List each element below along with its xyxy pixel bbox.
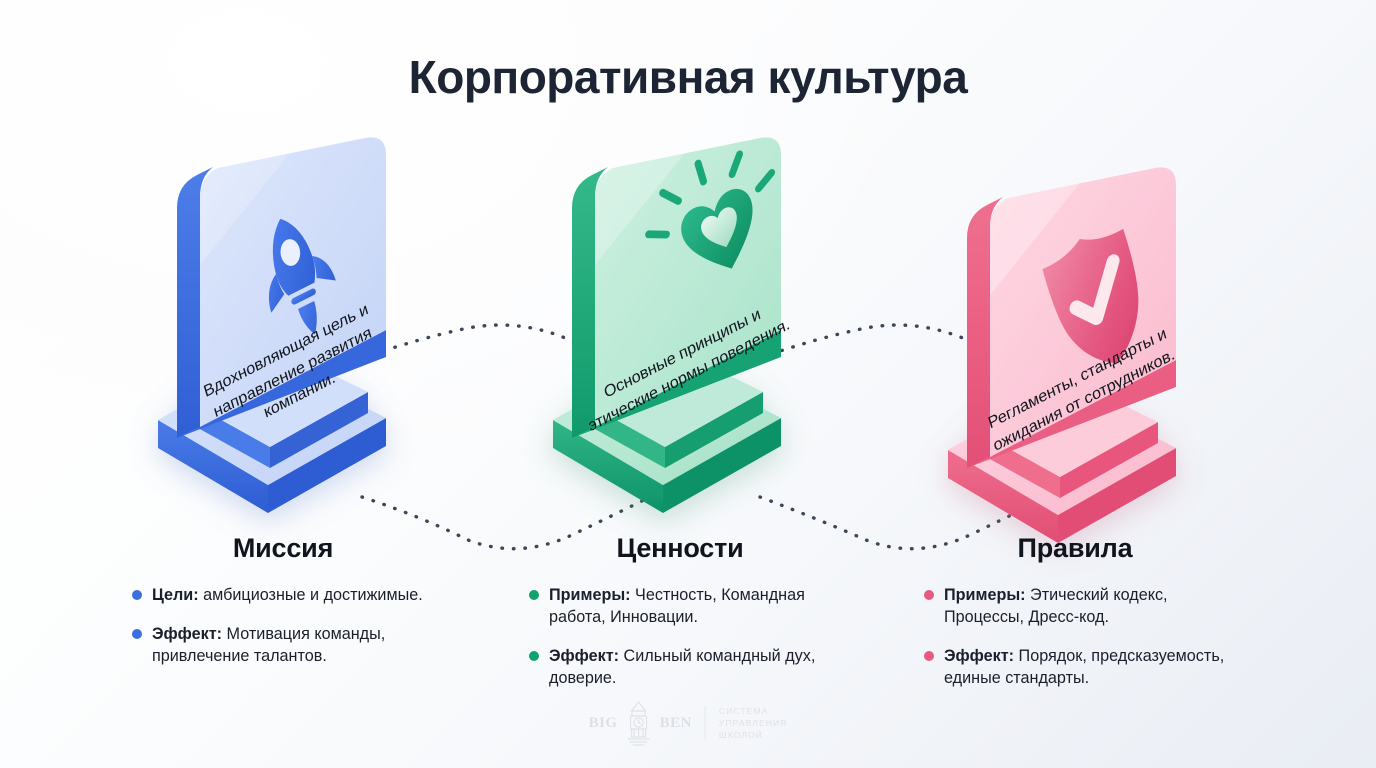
logo-divider [705, 706, 706, 740]
list-item: Эффект: Мотивация команды, привлечение т… [152, 623, 448, 667]
bullet-label: Цели: [152, 586, 199, 604]
bullet-dot-icon [132, 590, 142, 600]
card-values[interactable]: Основные принципы и этические нормы пове… [545, 135, 845, 535]
bullet-dot-icon [529, 651, 539, 661]
logo-tagline: Система управления школой [719, 705, 788, 742]
bullet-label: Эффект: [152, 625, 222, 643]
logo-tagline-line2: управления [719, 717, 788, 729]
clock-tower-icon [622, 700, 656, 746]
column-heading-values: Ценности [515, 533, 845, 564]
card-mission[interactable]: Вдохновляющая цель и направление развити… [150, 135, 450, 535]
bullet-dot-icon [132, 629, 142, 639]
card-rules[interactable]: Регламенты, стандарты и ожидания от сотр… [940, 165, 1240, 565]
bullet-list-mission: Цели: амбициозные и достижимые. Эффект: … [118, 584, 448, 667]
bullet-label: Эффект: [944, 647, 1014, 665]
bigben-logo-mark: BIG BEN [589, 700, 692, 746]
list-item: Цели: амбициозные и достижимые. [152, 584, 448, 606]
bullet-label: Эффект: [549, 647, 619, 665]
logo-tagline-line3: школой [719, 729, 788, 741]
logo-word-ben: BEN [660, 715, 692, 732]
logo-tagline-line1: Система [719, 705, 788, 717]
column-mission: Миссия Цели: амбициозные и достижимые. Э… [118, 533, 448, 684]
list-item: Эффект: Порядок, предсказуемость, единые… [944, 645, 1240, 689]
column-rules: Правила Примеры: Этический кодекс, Проце… [910, 533, 1240, 706]
infographic-scene: Вдохновляющая цель и направление развити… [0, 0, 1376, 768]
column-values: Ценности Примеры: Честность, Командная р… [515, 533, 845, 706]
bullet-label: Примеры: [549, 586, 631, 604]
bullet-dot-icon [924, 590, 934, 600]
bullet-text: амбициозные и достижимые. [199, 586, 423, 604]
bullet-list-rules: Примеры: Этический кодекс, Процессы, Дре… [910, 584, 1240, 689]
footer-logo: BIG BEN Система управления школой [589, 700, 788, 746]
column-heading-mission: Миссия [118, 533, 448, 564]
list-item: Эффект: Сильный командный дух, доверие. [549, 645, 845, 689]
column-heading-rules: Правила [910, 533, 1240, 564]
list-item: Примеры: Честность, Командная работа, Ин… [549, 584, 845, 628]
bullet-label: Примеры: [944, 586, 1026, 604]
logo-word-big: BIG [589, 715, 618, 732]
bullet-dot-icon [529, 590, 539, 600]
list-item: Примеры: Этический кодекс, Процессы, Дре… [944, 584, 1240, 628]
bullet-dot-icon [924, 651, 934, 661]
bullet-list-values: Примеры: Честность, Командная работа, Ин… [515, 584, 845, 689]
